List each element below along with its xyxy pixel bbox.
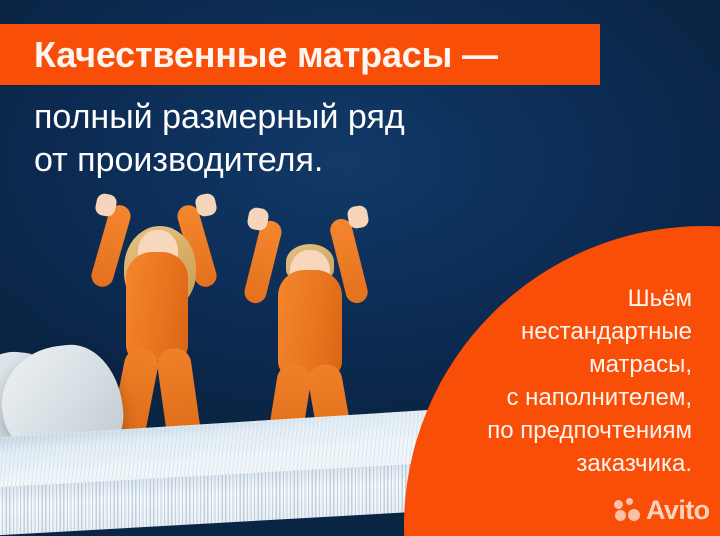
avito-logo: Avito	[614, 498, 710, 522]
avito-wordmark: Avito	[646, 498, 710, 522]
offer-line-5: по предпочтениям	[392, 414, 692, 447]
torso-pajama	[278, 270, 342, 376]
offer-line-2: нестандартные	[392, 315, 692, 348]
hand-right	[346, 204, 370, 229]
offer-description: Шьём нестандартные матрасы, с наполнител…	[392, 282, 692, 480]
subheadline-line-2: от производителя.	[34, 139, 405, 182]
headline-text: Качественные матрасы —	[0, 34, 498, 76]
avito-dots-icon	[614, 498, 640, 522]
offer-line-4: с наполнителем,	[392, 381, 692, 414]
torso-pajama	[126, 252, 188, 360]
offer-line-3: матрасы,	[392, 348, 692, 381]
offer-line-6: заказчика.	[392, 447, 692, 480]
subheadline-line-1: полный размерный ряд	[34, 96, 405, 139]
offer-line-1: Шьём	[392, 282, 692, 315]
subheadline: полный размерный ряд от производителя.	[34, 96, 405, 182]
headline-banner: Качественные матрасы —	[0, 24, 600, 85]
advertisement-banner: Качественные матрасы — полный размерный …	[0, 0, 720, 536]
